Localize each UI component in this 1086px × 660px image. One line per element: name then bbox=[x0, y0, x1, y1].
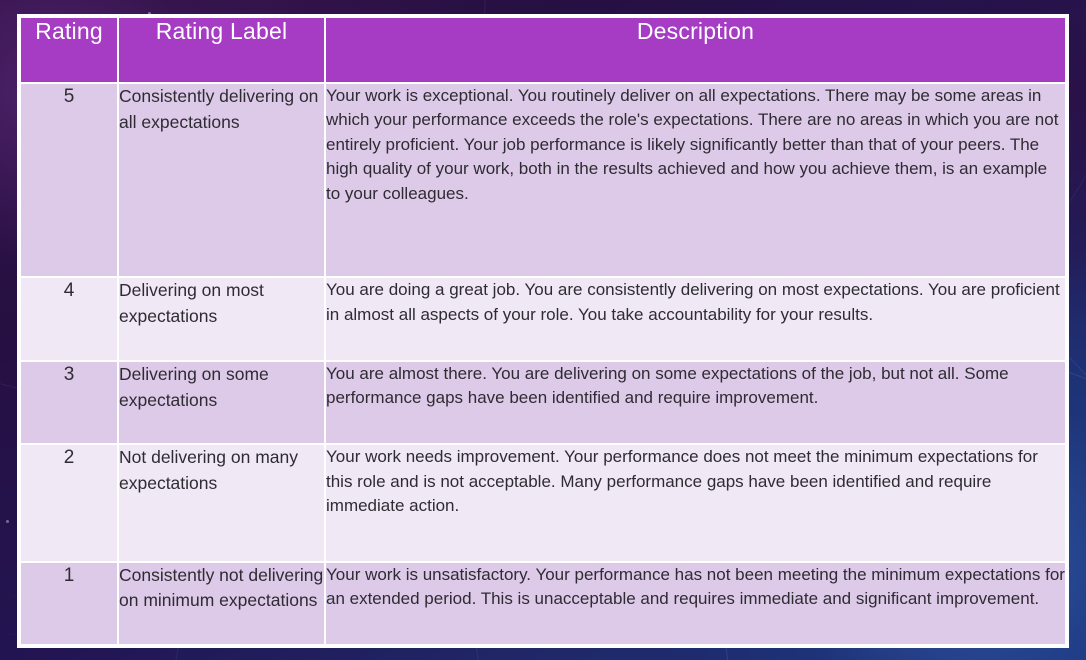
cell-rating: 2 bbox=[21, 445, 117, 560]
table-row: 4 Delivering on most expectations You ar… bbox=[21, 278, 1065, 359]
cell-description: You are doing a great job. You are consi… bbox=[326, 278, 1065, 359]
column-header-rating-label-col: Rating Label bbox=[119, 18, 324, 82]
performance-rating-scale-table: Rating Rating Label Description 5 Consis… bbox=[19, 16, 1067, 646]
cell-rating-label: Not delivering on many expectations bbox=[119, 445, 324, 560]
slide-background: Rating Rating Label Description 5 Consis… bbox=[0, 0, 1086, 660]
cell-description: Your work is exceptional. You routinely … bbox=[326, 84, 1065, 276]
column-header-rating-label-text: Rating Label bbox=[119, 18, 324, 45]
table-row: 5 Consistently delivering on all expecta… bbox=[21, 84, 1065, 276]
column-header-rating-label: Rating bbox=[21, 18, 117, 45]
table-body: 5 Consistently delivering on all expecta… bbox=[21, 84, 1065, 644]
cell-rating-label: Consistently delivering on all expectati… bbox=[119, 84, 324, 276]
table-row: 1 Consistently not delivering on minimum… bbox=[21, 563, 1065, 644]
cell-rating: 3 bbox=[21, 362, 117, 443]
column-header-description: Description bbox=[326, 18, 1065, 82]
table-row: 3 Delivering on some expectations You ar… bbox=[21, 362, 1065, 443]
table-row: 2 Not delivering on many expectations Yo… bbox=[21, 445, 1065, 560]
cell-rating-label: Delivering on some expectations bbox=[119, 362, 324, 443]
column-header-rating: Rating bbox=[21, 18, 117, 82]
cell-rating: 4 bbox=[21, 278, 117, 359]
cell-rating: 1 bbox=[21, 563, 117, 644]
column-header-description-label: Description bbox=[326, 18, 1065, 45]
table-header-row: Rating Rating Label Description bbox=[21, 18, 1065, 82]
cell-description: Your work needs improvement. Your perfor… bbox=[326, 445, 1065, 560]
cell-description: You are almost there. You are delivering… bbox=[326, 362, 1065, 443]
rating-table-container: Rating Rating Label Description 5 Consis… bbox=[17, 14, 1069, 648]
cell-rating-label: Consistently not delivering on minimum e… bbox=[119, 563, 324, 644]
cell-rating: 5 bbox=[21, 84, 117, 276]
cell-rating-label: Delivering on most expectations bbox=[119, 278, 324, 359]
table-header: Rating Rating Label Description bbox=[21, 18, 1065, 82]
cell-description: Your work is unsatisfactory. Your perfor… bbox=[326, 563, 1065, 644]
decorative-dot bbox=[6, 520, 9, 523]
